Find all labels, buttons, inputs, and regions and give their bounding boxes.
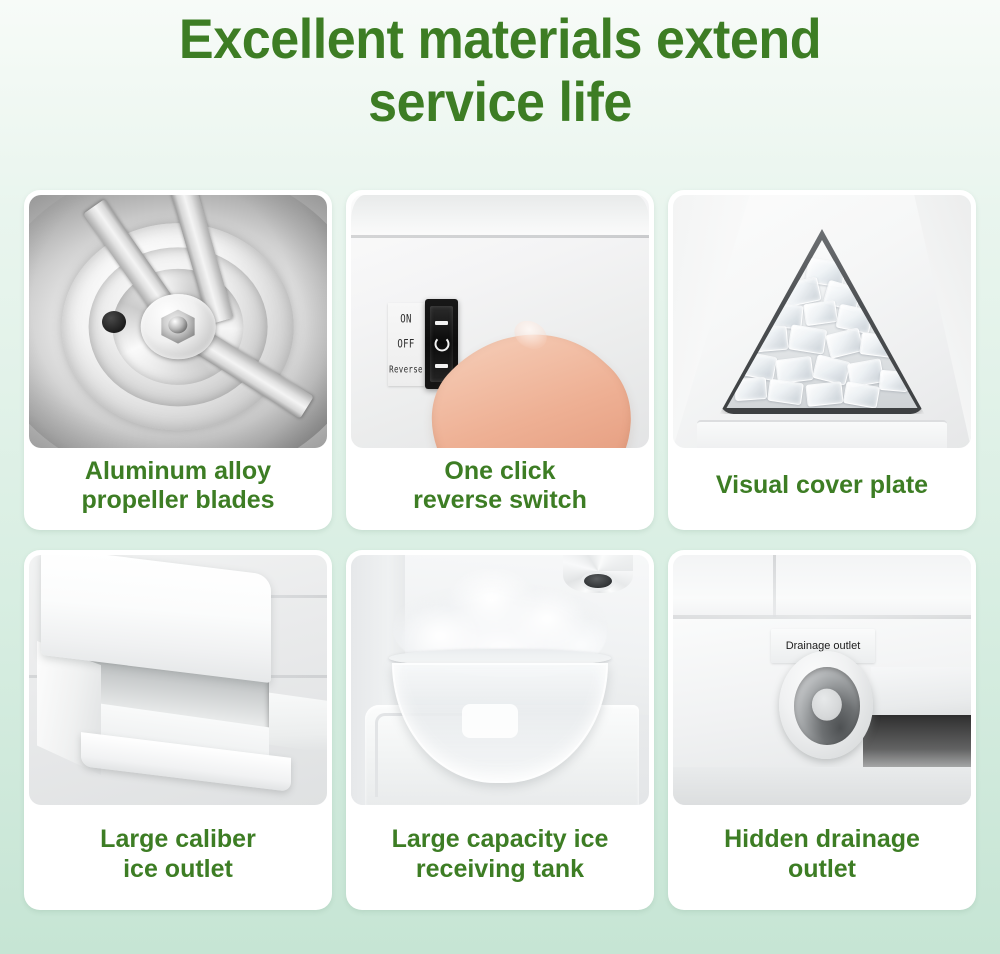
switch-dash-bottom-icon (435, 364, 449, 368)
feature-card-cover-plate[interactable]: Visual cover plate (668, 190, 976, 530)
appliance-top-cover (351, 195, 649, 237)
switch-label-on: ON (400, 314, 411, 327)
propeller-photo (29, 195, 327, 448)
floor-surface (673, 767, 971, 805)
receiving-tank-photo (351, 555, 649, 805)
ice-cube (843, 382, 881, 408)
card-caption-cover-plate: Visual cover plate (673, 448, 971, 530)
ice-cube (812, 354, 851, 385)
ice-outlet-photo (29, 555, 327, 805)
switch-label-off: OFF (397, 339, 414, 352)
feature-card-propeller[interactable]: Aluminum alloy propeller blades (24, 190, 332, 530)
ice-cube (767, 379, 804, 405)
reverse-switch-photo: ON OFF Reverse (351, 195, 649, 448)
feature-card-receiving-tank[interactable]: Large capacity ice receiving tank (346, 550, 654, 910)
switch-dash-top-icon (435, 321, 449, 325)
appliance-seam-line (351, 235, 649, 238)
ice-cube-pile (727, 240, 918, 408)
card-caption-drainage-outlet: Hidden drainage outlet (673, 805, 971, 910)
feature-card-ice-outlet[interactable]: Large caliber ice outlet (24, 550, 332, 910)
drainage-port-recess (794, 667, 860, 745)
power-symbol-icon (434, 337, 449, 352)
cover-plate-photo (673, 195, 971, 448)
ice-cube (825, 327, 864, 358)
drainage-outlet-photo: Drainage outlet (673, 555, 971, 805)
feature-card-grid: Aluminum alloy propeller blades ON OFF R… (24, 190, 976, 910)
feature-card-reverse-switch[interactable]: ON OFF Reverse One click reverse switch (346, 190, 654, 530)
feature-card-drainage-outlet[interactable]: Drainage outlet Hidden drainage outlet (668, 550, 976, 910)
base-right-step (871, 667, 971, 717)
drainage-port[interactable] (779, 651, 873, 759)
switch-label-reverse: Reverse (389, 364, 423, 375)
card-caption-propeller: Aluminum alloy propeller blades (29, 448, 327, 530)
ice-cube (803, 300, 838, 326)
switch-label-plate: ON OFF Reverse (388, 303, 424, 386)
triangular-window (720, 229, 925, 414)
vertical-seam-line (773, 555, 776, 617)
page-title-line-1: Excellent materials extend (100, 8, 900, 71)
nozzle-opening (584, 574, 612, 588)
ice-cube (775, 355, 814, 383)
page-title: Excellent materials extend service life (35, 0, 965, 133)
ice-cube (788, 325, 828, 356)
card-caption-receiving-tank: Large capacity ice receiving tank (351, 805, 649, 910)
fan-screw-hole (102, 311, 126, 333)
card-caption-reverse-switch: One click reverse switch (351, 448, 649, 530)
upper-panel (673, 555, 971, 617)
page-title-line-2: service life (100, 71, 900, 134)
ice-cube (806, 381, 844, 407)
drainage-port-plug (812, 688, 842, 721)
appliance-base-panel (697, 420, 947, 448)
card-caption-ice-outlet: Large caliber ice outlet (29, 805, 327, 910)
bowl-label-patch (462, 704, 518, 738)
